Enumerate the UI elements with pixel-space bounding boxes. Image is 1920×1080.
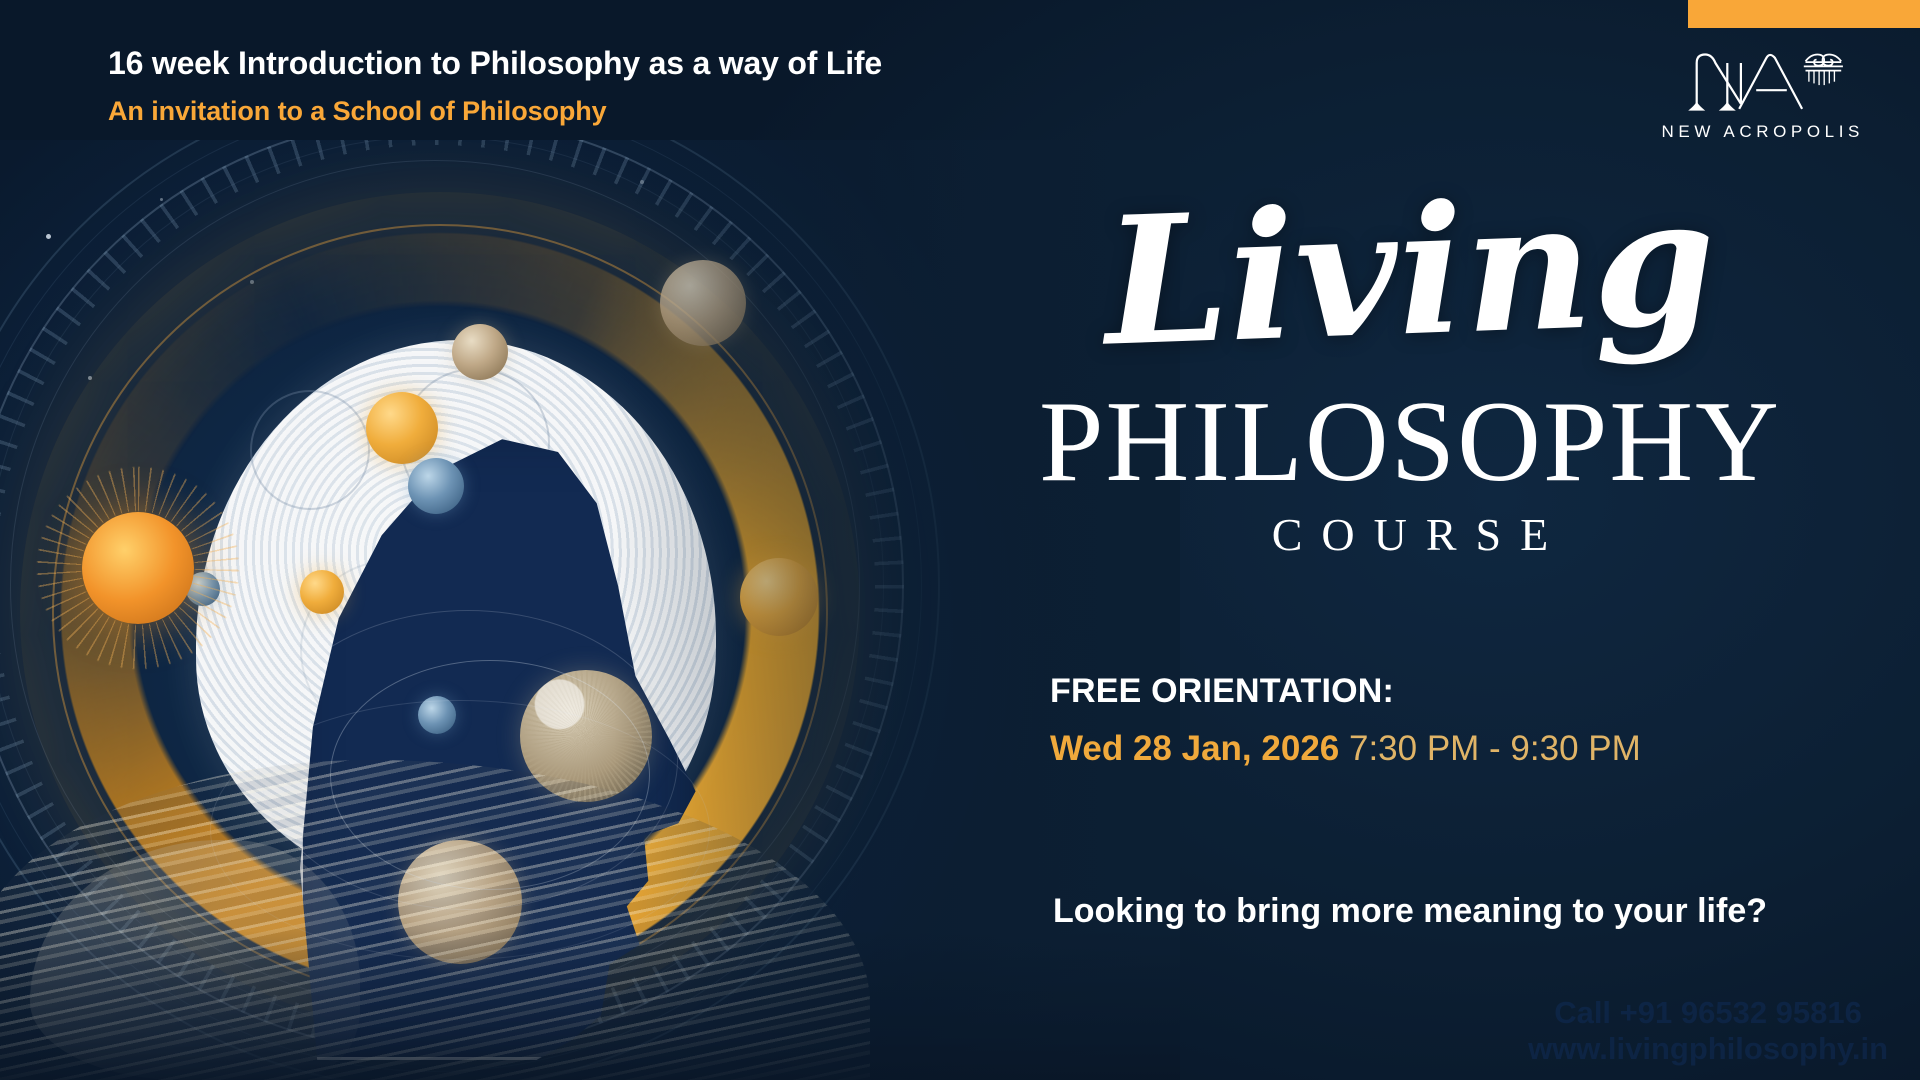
poster-canvas: 16 week Introduction to Philosophy as a … bbox=[0, 0, 1920, 1080]
contact-phone[interactable]: Call +91 96532 95816 bbox=[1528, 995, 1888, 1032]
logo-wordmark: NEW ACROPOLIS bbox=[1662, 122, 1864, 142]
orientation-time: 7:30 PM - 9:30 PM bbox=[1339, 729, 1641, 768]
title-course: COURSE bbox=[950, 512, 1870, 558]
na-monogram-icon bbox=[1678, 44, 1848, 116]
contact-block: Call +91 96532 95816 www.livingphilosoph… bbox=[1528, 995, 1888, 1068]
ionic-capital-icon bbox=[1804, 55, 1843, 71]
contact-website[interactable]: www.livingphilosophy.in bbox=[1528, 1031, 1888, 1068]
tagline-question: Looking to bring more meaning to your li… bbox=[950, 892, 1870, 931]
orientation-datetime: Wed 28 Jan, 2026 7:30 PM - 9:30 PM bbox=[1050, 729, 1890, 769]
new-acropolis-logo: NEW ACROPOLIS bbox=[1662, 44, 1864, 142]
orientation-date: Wed 28 Jan, 2026 bbox=[1050, 729, 1339, 768]
orientation-label: FREE ORIENTATION: bbox=[1050, 672, 1890, 711]
header-text-block: 16 week Introduction to Philosophy as a … bbox=[108, 44, 882, 128]
right-content-column: Living PHILOSOPHY COURSE FREE ORIENTATIO… bbox=[950, 0, 1920, 1080]
title-philosophy: PHILOSOPHY bbox=[950, 384, 1870, 500]
title-script-living: Living bbox=[947, 168, 1873, 376]
orientation-block: FREE ORIENTATION: Wed 28 Jan, 2026 7:30 … bbox=[1050, 672, 1890, 769]
course-invitation-subheading: An invitation to a School of Philosophy bbox=[108, 95, 882, 128]
course-intro-heading: 16 week Introduction to Philosophy as a … bbox=[108, 44, 882, 83]
